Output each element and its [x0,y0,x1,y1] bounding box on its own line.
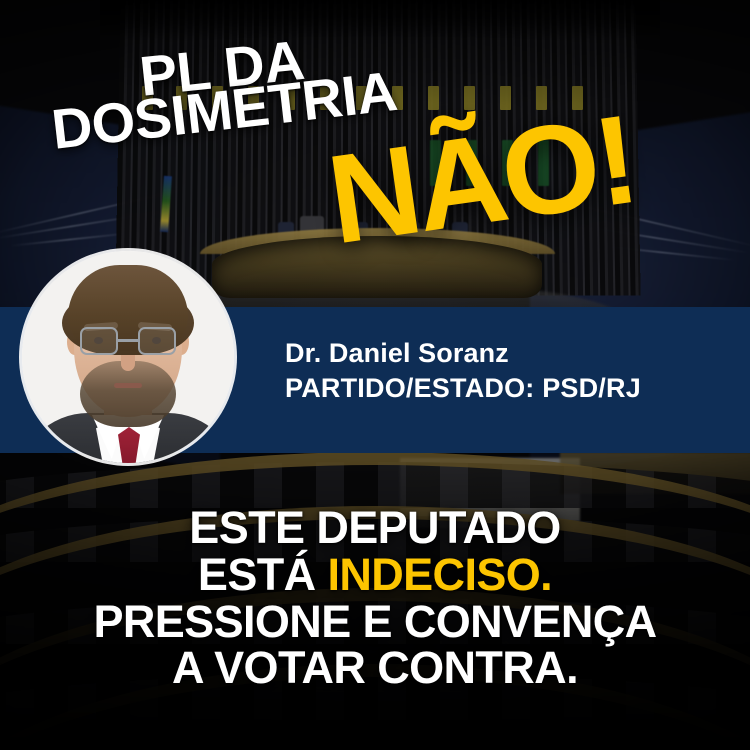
ceiling-shadow [100,0,660,40]
green-inlay [430,140,441,186]
gold-inlay [176,86,187,110]
call-to-action-block: ESTE DEPUTADO ESTÁ INDECISO. PRESSIONE E… [0,505,750,692]
cta-line-4: A VOTAR CONTRA. [0,645,750,692]
gold-inlay [212,86,223,110]
cta-line-1: ESTE DEPUTADO [0,505,750,552]
gold-inlay [428,86,439,110]
gold-inlay [536,86,547,110]
gold-inlay [464,86,475,110]
green-inlay [502,140,513,186]
cta-highlight-indeciso: INDECISO. [327,549,552,600]
deputy-portrait-avatar [22,251,234,463]
gold-inlay [572,86,583,110]
portrait-glasses-bridge [118,339,138,342]
gold-inlay [356,86,367,110]
gold-inlay [320,86,331,110]
green-inlay [466,140,477,186]
cta-line-2-prefix: ESTÁ [198,549,328,600]
deputy-party-state: PARTIDO/ESTADO: PSD/RJ [285,371,730,406]
portrait-canvas [22,251,234,463]
portrait-mouth [114,383,142,388]
gold-inlay [500,86,511,110]
portrait-glasses-lens [138,327,176,355]
deputy-name: Dr. Daniel Soranz [285,336,730,371]
gold-inlay [392,86,403,110]
gold-inlay [142,86,153,110]
cta-line-3: PRESSIONE E CONVENÇA [0,599,750,646]
green-inlay [538,140,549,186]
mesa-diretora [212,236,542,298]
campaign-poster: PL DA DOSIMETRIA NÃO! Dr. Daniel Soranz … [0,0,750,750]
gold-inlay [284,86,295,110]
cta-line-2: ESTÁ INDECISO. [0,552,750,599]
deputy-info: Dr. Daniel Soranz PARTIDO/ESTADO: PSD/RJ [285,336,730,405]
gold-inlay [248,86,259,110]
portrait-glasses-lens [80,327,118,355]
